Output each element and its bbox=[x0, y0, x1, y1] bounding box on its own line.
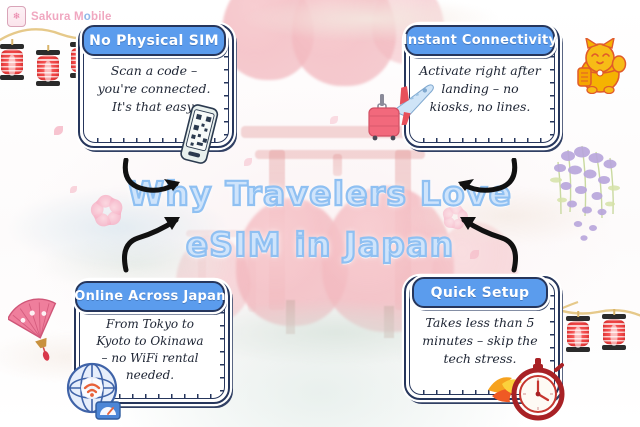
sakura-petal bbox=[54, 126, 63, 135]
card-body-line: Kyoto to Okinawa bbox=[80, 333, 220, 350]
card-body-line: Activate right after bbox=[410, 62, 550, 80]
brand-name: Sakura Mobile bbox=[31, 11, 112, 23]
maneki-neko-icon bbox=[572, 38, 630, 94]
badge-label: Quick Setup bbox=[431, 285, 530, 301]
badge-online-across-japan[interactable]: Online Across Japan bbox=[75, 281, 225, 312]
japanese-lantern-icon bbox=[602, 314, 626, 350]
brand-logo[interactable]: ❄ Sakura Mobile bbox=[7, 6, 112, 27]
card-body-line: minutes – skip the bbox=[410, 332, 550, 350]
japanese-lantern-icon bbox=[0, 44, 24, 80]
badge-no-physical-sim[interactable]: No Physical SIM bbox=[82, 25, 226, 56]
card-body-line: From Tokyo to bbox=[80, 316, 220, 333]
globe-wifi-icon bbox=[64, 360, 126, 422]
suitcase-airplane-icon bbox=[366, 82, 438, 142]
phone-qr-code-icon bbox=[178, 104, 220, 166]
japanese-lantern-icon bbox=[36, 50, 60, 86]
folding-fan-icon bbox=[8, 292, 70, 362]
page-title: Why Travelers Love eSIM in Japan bbox=[0, 168, 640, 270]
badge-label: No Physical SIM bbox=[89, 33, 219, 49]
badge-instant-connectivity[interactable]: Instant Connectivity bbox=[405, 25, 555, 56]
infographic-canvas: No Physical SIM Scan a code – you're con… bbox=[0, 0, 640, 427]
sakura-petal bbox=[330, 116, 338, 124]
badge-quick-setup[interactable]: Quick Setup bbox=[412, 277, 548, 308]
page-title-line2: eSIM in Japan bbox=[0, 219, 640, 270]
card-body-line: Takes less than 5 bbox=[410, 314, 550, 332]
sakura-phone-icon: ❄ bbox=[7, 6, 26, 27]
badge-label: Online Across Japan bbox=[74, 289, 226, 304]
flaming-stopwatch-icon bbox=[486, 356, 566, 422]
card-body-line: you're connected. bbox=[84, 80, 224, 98]
card-body-line: Scan a code – bbox=[84, 62, 224, 80]
page-title-line1: Why Travelers Love bbox=[0, 168, 640, 219]
badge-label: Instant Connectivity bbox=[403, 33, 558, 48]
sakura-petal bbox=[244, 158, 252, 166]
